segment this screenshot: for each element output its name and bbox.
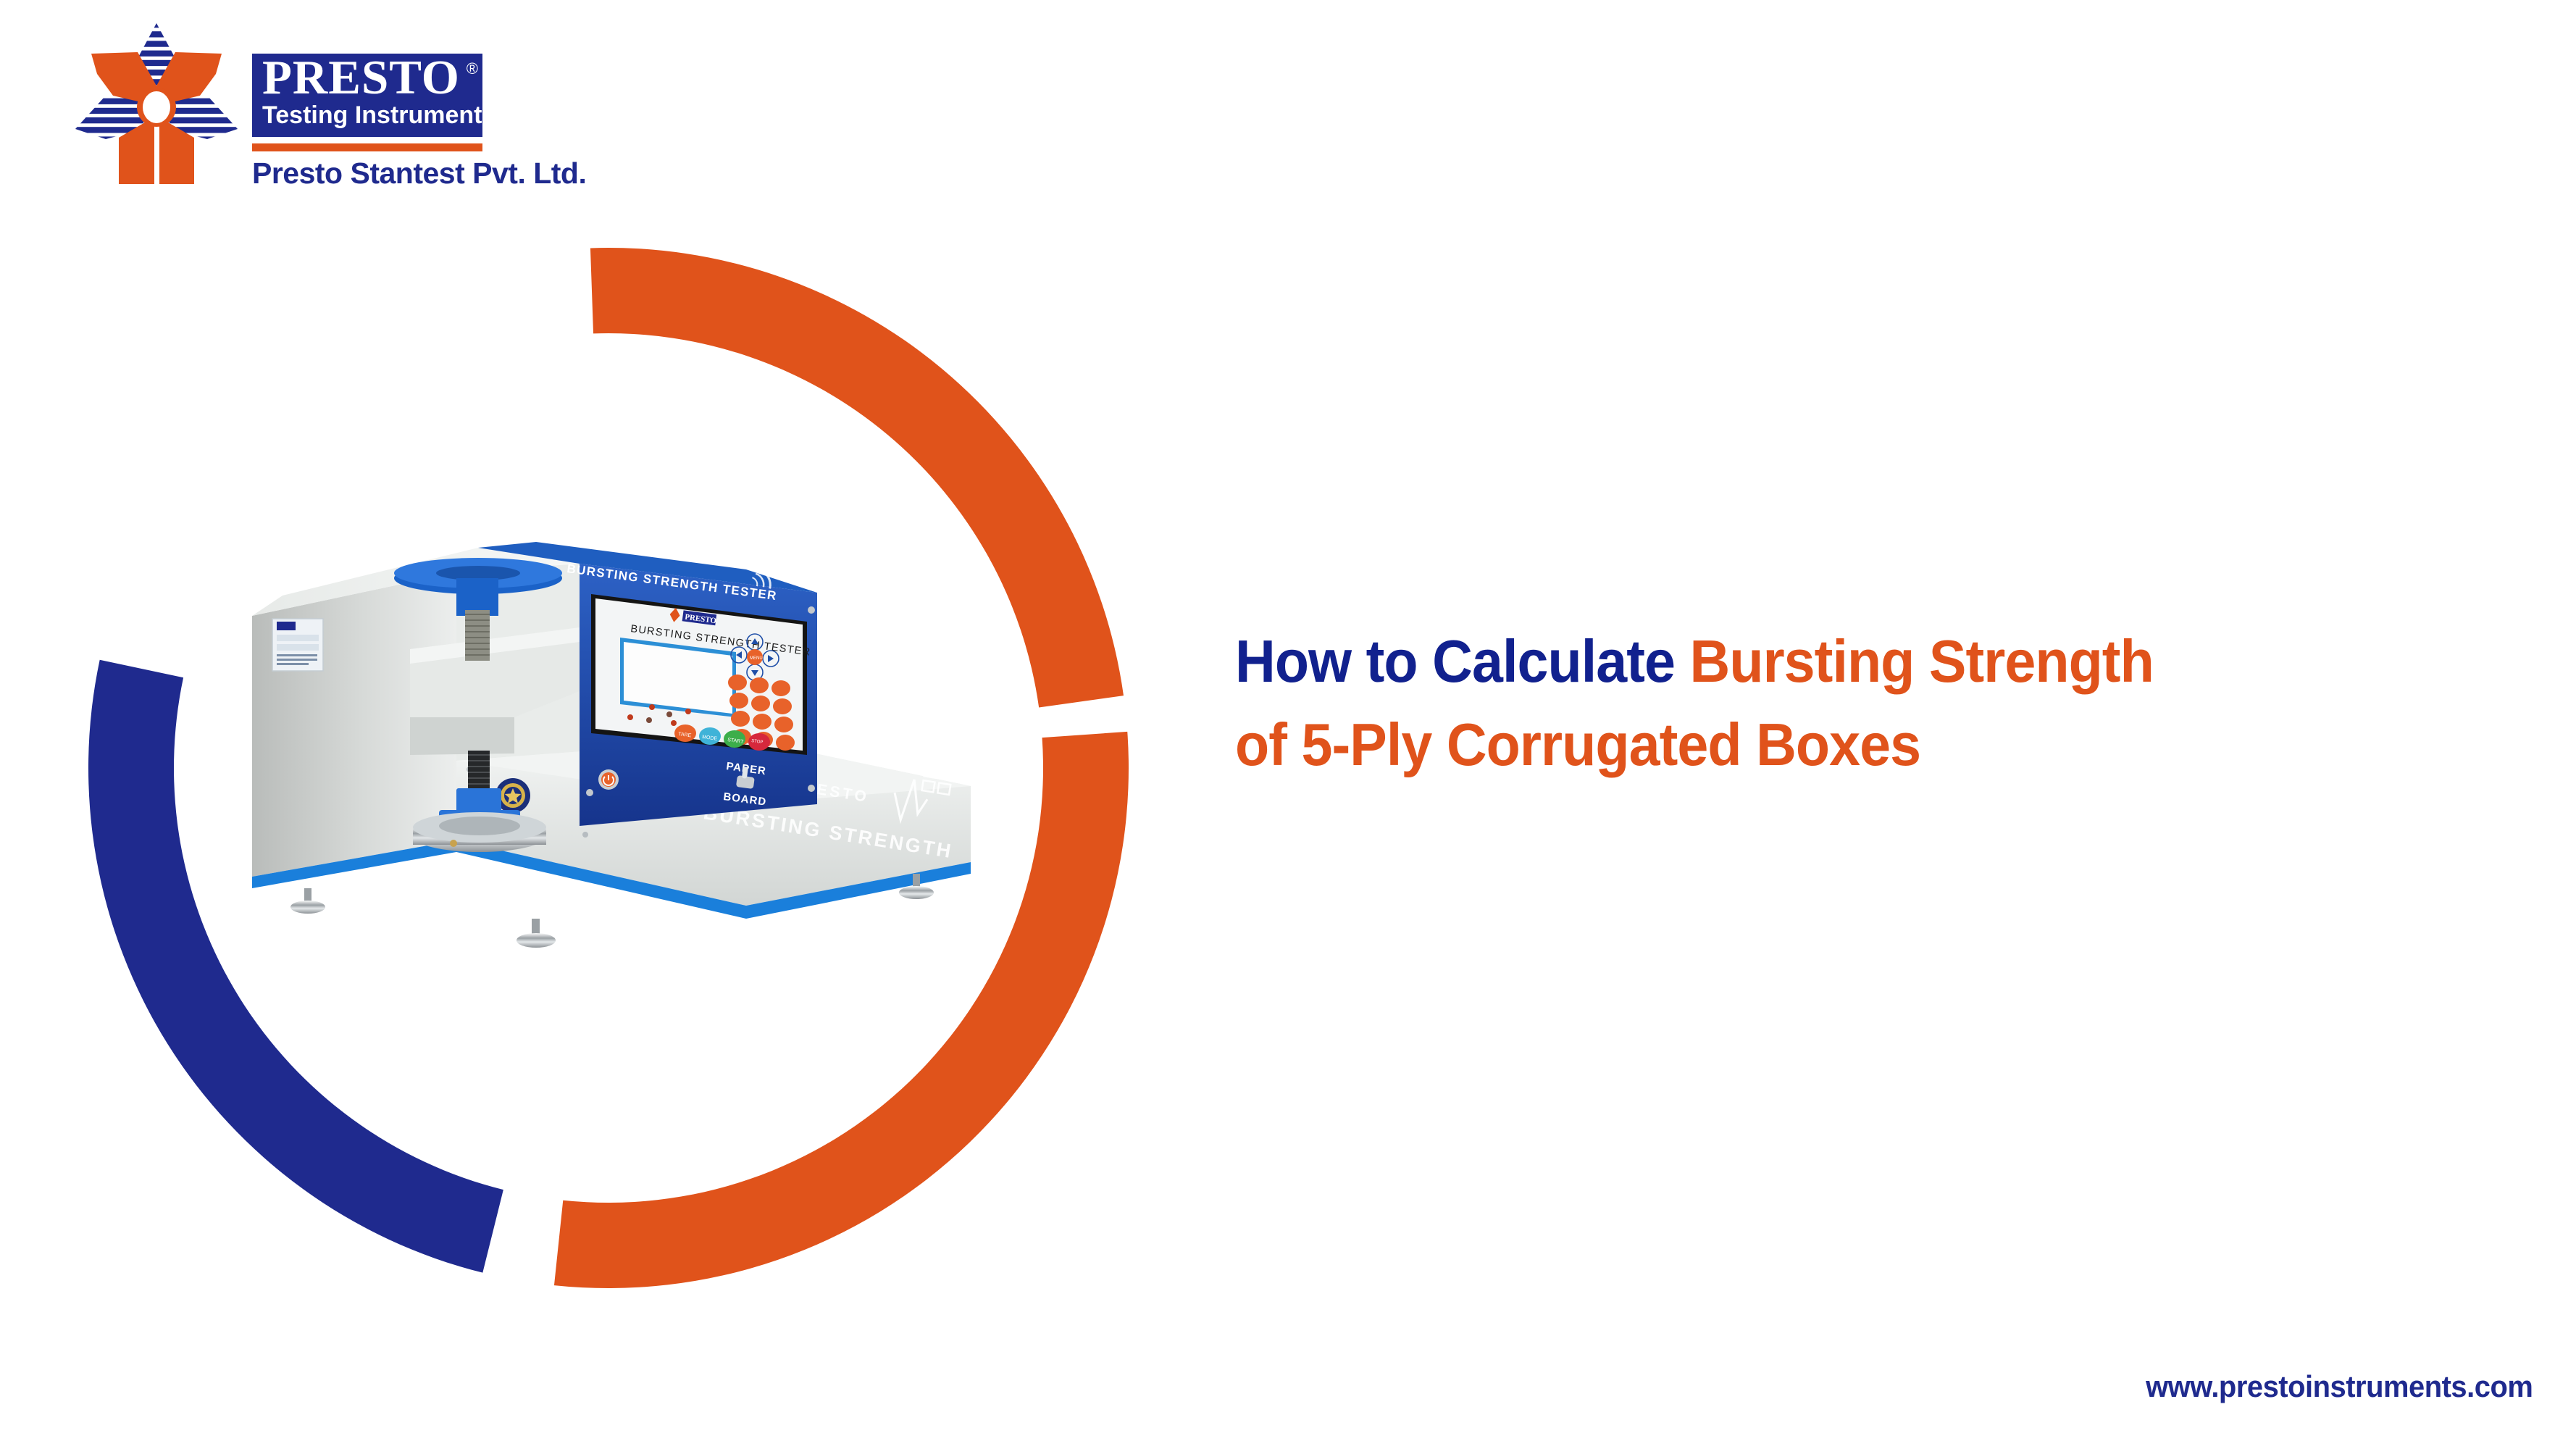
company-name: Presto Stantest Pvt. Ltd. xyxy=(252,156,586,191)
presto-logo: PRESTO ® Testing Instruments Presto Stan… xyxy=(72,20,493,188)
headline-line-1-orange: Bursting Strength xyxy=(1690,627,2154,695)
presto-tagline: Testing Instruments xyxy=(262,101,495,130)
logo-orange-divider xyxy=(252,143,482,151)
headline-line-2: of 5-Ply Corrugated Boxes xyxy=(1235,703,2441,786)
headline-line-2-orange: of 5-Ply Corrugated Boxes xyxy=(1235,711,1920,778)
presto-wordmark-box: PRESTO ® Testing Instruments xyxy=(252,54,482,137)
presto-star-icon xyxy=(72,22,241,187)
headline: How to Calculate Bursting Strength of 5-… xyxy=(1235,619,2532,786)
machine-nameplate-label xyxy=(272,619,323,671)
banner-canvas: PRESTO ® Testing Instruments Presto Stan… xyxy=(0,0,2576,1449)
headline-line-1-blue: How to Calculate xyxy=(1235,627,1690,695)
website-url[interactable]: www.prestoinstruments.com xyxy=(2146,1369,2533,1404)
machine-keypad-panel: PRESTO BURSTING STRENGTH TESTER xyxy=(591,594,811,755)
machine-power-button xyxy=(598,769,619,790)
headline-line-1: How to Calculate Bursting Strength xyxy=(1235,619,2441,703)
registered-trademark-icon: ® xyxy=(467,59,478,78)
svg-text:MENU: MENU xyxy=(750,656,763,661)
presto-wordmark-text: PRESTO xyxy=(262,51,460,104)
bursting-strength-tester-image: PRESTO BURSTING STRENGTH xyxy=(239,500,1036,978)
presto-wordmark: PRESTO ® Testing Instruments Presto Stan… xyxy=(252,54,493,188)
